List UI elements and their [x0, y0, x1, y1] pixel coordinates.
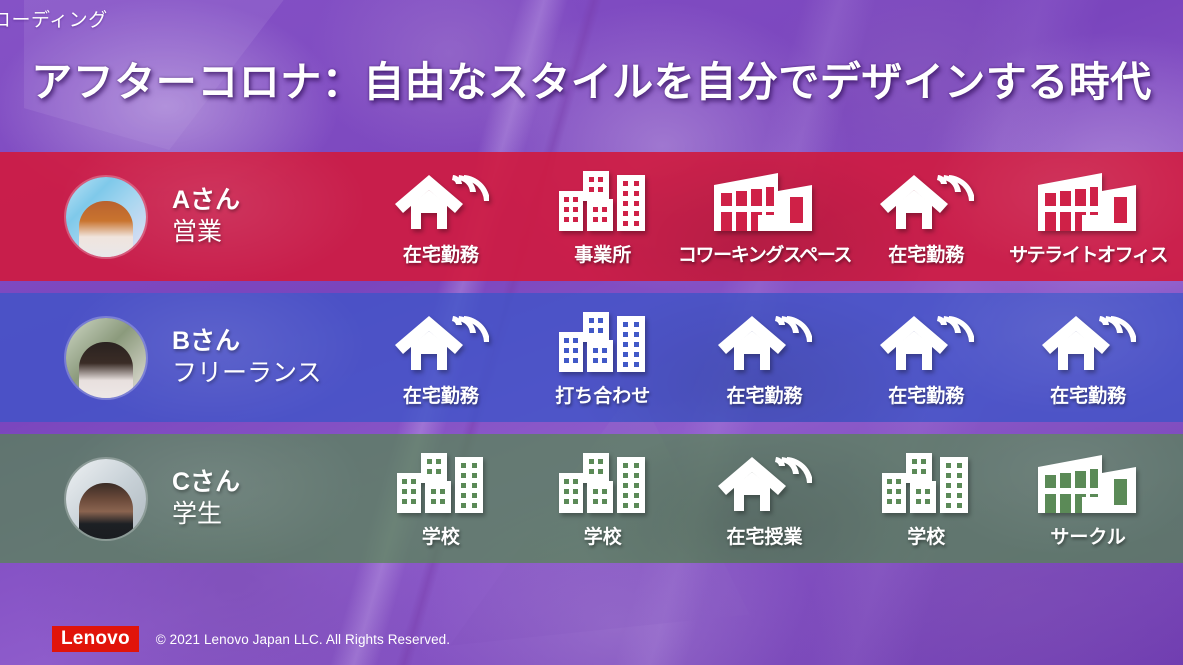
- persona-rows: Aさん 営業 在宅勤務: [0, 152, 1183, 563]
- cell-b-4-label: 在宅勤務: [888, 381, 964, 408]
- cell-a-5: サテライトオフィス: [1007, 167, 1169, 267]
- persona-c-text: Cさん 学生: [172, 467, 240, 530]
- persona-b-role: フリーランス: [172, 358, 322, 390]
- persona-c-role: 学生: [172, 499, 240, 531]
- cell-b-1: 在宅勤務: [360, 308, 522, 408]
- persona-b-text: Bさん フリーランス: [172, 326, 322, 389]
- cell-c-5: サークル: [1007, 449, 1169, 549]
- persona-b: Bさん フリーランス: [0, 318, 360, 398]
- cell-a-1: 在宅勤務: [360, 167, 522, 267]
- slide-canvas: コーディング アフターコロナ：自由なスタイルを自分でデザインする時代 Aさん 営…: [0, 0, 1183, 665]
- persona-a-role: 営業: [172, 217, 240, 249]
- persona-a-text: Aさん 営業: [172, 185, 240, 248]
- cell-c-1: 学校: [360, 449, 522, 549]
- slide-title: アフターコロナ：自由なスタイルを自分でデザインする時代: [0, 48, 1183, 108]
- cell-a-5-label: サテライトオフィス: [1009, 240, 1167, 267]
- persona-b-name: Bさん: [172, 326, 322, 358]
- city-buildings-icon: [880, 449, 972, 515]
- avatar-person-a: [66, 177, 146, 257]
- cell-b-3: 在宅勤務: [684, 308, 846, 408]
- persona-c-name: Cさん: [172, 467, 240, 499]
- persona-c: Cさん 学生: [0, 459, 360, 539]
- office-building-icon: [1036, 167, 1140, 233]
- office-building-icon: [712, 167, 816, 233]
- lenovo-logo: Lenovo: [52, 626, 139, 653]
- city-buildings-icon: [557, 167, 649, 233]
- persona-c-cells: 学校: [360, 449, 1183, 549]
- cell-a-3: コワーキングスペース: [684, 167, 846, 267]
- cell-b-5: 在宅勤務: [1007, 308, 1169, 408]
- persona-row-b: Bさん フリーランス 在宅勤務: [0, 293, 1183, 422]
- avatar-face: [79, 483, 133, 539]
- cell-a-2-label: 事業所: [574, 240, 631, 267]
- cell-b-1-label: 在宅勤務: [403, 381, 479, 408]
- home-wifi-icon: [878, 308, 974, 374]
- avatar-face: [79, 201, 133, 257]
- cell-c-5-label: サークル: [1050, 522, 1125, 549]
- persona-a-name: Aさん: [172, 185, 240, 217]
- cell-a-2: 事業所: [522, 167, 684, 267]
- home-wifi-icon: [393, 167, 489, 233]
- cell-c-4-label: 学校: [907, 522, 945, 549]
- avatar-person-c: [66, 459, 146, 539]
- persona-b-cells: 在宅勤務: [360, 308, 1183, 408]
- home-wifi-icon: [1040, 308, 1136, 374]
- avatar-person-b: [66, 318, 146, 398]
- cell-b-2-label: 打ち合わせ: [555, 381, 650, 408]
- copyright-text: © 2021 Lenovo Japan LLC. All Rights Rese…: [156, 632, 450, 647]
- cell-c-3-label: 在宅授業: [726, 522, 802, 549]
- cell-b-2: 打ち合わせ: [522, 308, 684, 408]
- home-wifi-icon: [878, 167, 974, 233]
- home-wifi-icon: [716, 449, 812, 515]
- cell-b-4: 在宅勤務: [845, 308, 1007, 408]
- office-building-icon: [1036, 449, 1140, 515]
- avatar-face: [79, 342, 133, 398]
- cell-c-3: 在宅授業: [684, 449, 846, 549]
- city-buildings-icon: [557, 449, 649, 515]
- home-wifi-icon: [393, 308, 489, 374]
- persona-a: Aさん 営業: [0, 177, 360, 257]
- cell-c-2-label: 学校: [584, 522, 622, 549]
- city-buildings-icon: [395, 449, 487, 515]
- cell-b-3-label: 在宅勤務: [726, 381, 802, 408]
- cell-c-4: 学校: [845, 449, 1007, 549]
- corner-caption: コーディング: [0, 5, 108, 32]
- persona-row-c: Cさん 学生: [0, 434, 1183, 563]
- persona-a-cells: 在宅勤務: [360, 167, 1183, 267]
- cell-a-4: 在宅勤務: [845, 167, 1007, 267]
- footer: Lenovo © 2021 Lenovo Japan LLC. All Righ…: [0, 613, 1183, 665]
- city-buildings-icon: [557, 308, 649, 374]
- cell-a-3-label: コワーキングスペース: [678, 240, 851, 267]
- cell-b-5-label: 在宅勤務: [1050, 381, 1126, 408]
- cell-c-2: 学校: [522, 449, 684, 549]
- cell-a-1-label: 在宅勤務: [403, 240, 479, 267]
- cell-c-1-label: 学校: [422, 522, 460, 549]
- cell-a-4-label: 在宅勤務: [888, 240, 964, 267]
- persona-row-a: Aさん 営業 在宅勤務: [0, 152, 1183, 281]
- home-wifi-icon: [716, 308, 812, 374]
